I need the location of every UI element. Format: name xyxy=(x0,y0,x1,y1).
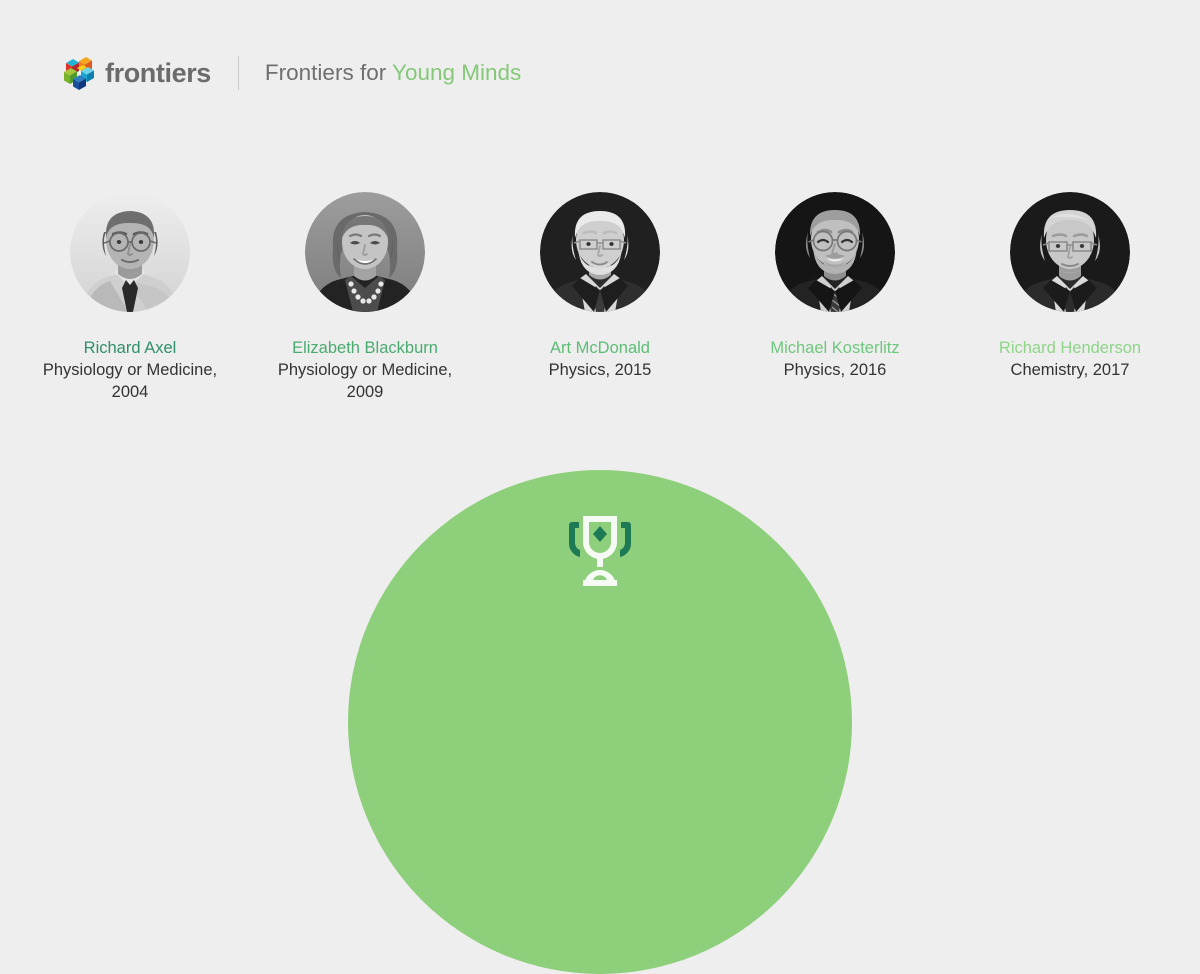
laureate-name: Michael Kosterlitz xyxy=(770,338,899,360)
laureate-card[interactable]: Richard Henderson Chemistry, 2017 xyxy=(953,192,1188,404)
page-title-accent: Young Minds xyxy=(392,60,521,85)
portrait-art-mcdonald xyxy=(540,192,660,312)
page-title-prefix: Frontiers for xyxy=(265,60,392,85)
laureates-row: Richard Axel Physiology or Medicine, 200… xyxy=(0,192,1200,404)
laureate-name: Elizabeth Blackburn xyxy=(292,338,438,360)
portrait-michael-kosterlitz xyxy=(775,192,895,312)
site-header: frontiers Frontiers for Young Minds xyxy=(62,50,521,96)
laureate-card[interactable]: Michael Kosterlitz Physics, 2016 xyxy=(718,192,953,404)
portrait-richard-henderson xyxy=(1010,192,1130,312)
laureate-prize: Chemistry, 2017 xyxy=(1011,360,1130,382)
laureate-name: Art McDonald xyxy=(550,338,650,360)
portrait-richard-axel xyxy=(70,192,190,312)
frontiers-wordmark: frontiers xyxy=(105,60,211,87)
laureate-name: Richard Henderson xyxy=(999,338,1141,360)
trophy-icon xyxy=(564,510,636,588)
frontiers-cube-logo-icon xyxy=(62,55,96,91)
laureate-prize: Physics, 2015 xyxy=(549,360,652,382)
portrait-elizabeth-blackburn xyxy=(305,192,425,312)
laureate-prize: Physics, 2016 xyxy=(784,360,887,382)
laureate-name: Richard Axel xyxy=(84,338,177,360)
laureate-prize: Physiology or Medicine, 2004 xyxy=(30,360,230,404)
laureate-card[interactable]: Richard Axel Physiology or Medicine, 200… xyxy=(13,192,248,404)
page-title: Frontiers for Young Minds xyxy=(265,62,521,85)
laureate-card[interactable]: Art McDonald Physics, 2015 xyxy=(483,192,718,404)
header-divider xyxy=(238,56,239,90)
laureate-prize: Physiology or Medicine, 2009 xyxy=(265,360,465,404)
laureate-card[interactable]: Elizabeth Blackburn Physiology or Medici… xyxy=(248,192,483,404)
